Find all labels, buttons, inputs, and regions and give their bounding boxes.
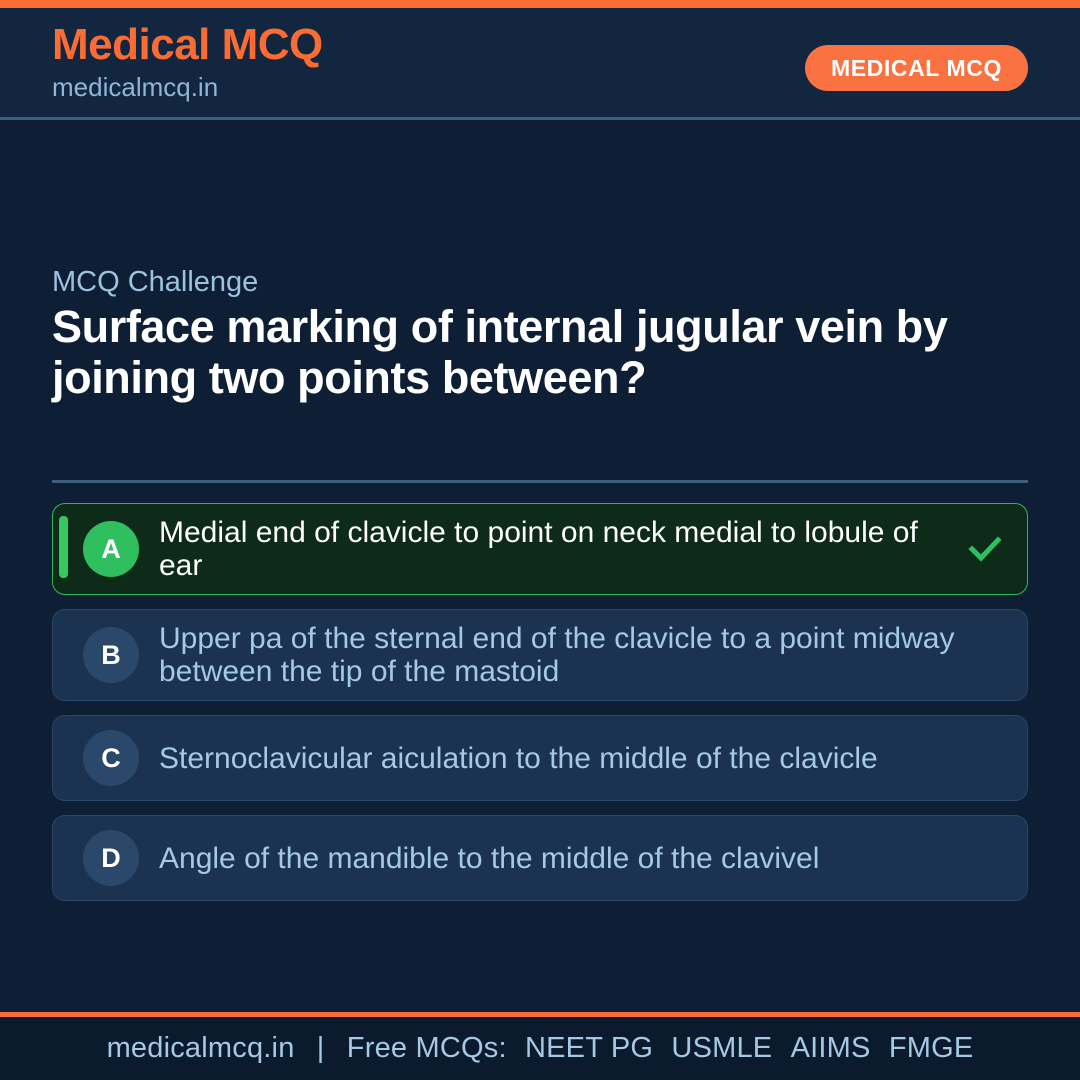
question-text: Surface marking of internal jugular vein… (52, 302, 1032, 404)
footer-exam-usmle: USMLE (661, 1032, 772, 1064)
footer-exam-fmge: FMGE (879, 1032, 974, 1064)
footer-separator: | (303, 1032, 339, 1064)
brand-subtitle: medicalmcq.in (52, 71, 323, 104)
footer-exam-aiims: AIIMS (781, 1032, 871, 1064)
mcq-kicker-label: MCQ Challenge (52, 268, 258, 297)
option-b[interactable]: B Upper pa of the sternal end of the cla… (52, 609, 1028, 701)
option-c-text: Sternoclavicular aiculation to the middl… (159, 730, 963, 787)
option-d-letter-badge: D (83, 830, 139, 886)
option-a-letter-badge: A (83, 521, 139, 577)
page-header: Medical MCQ medicalmcq.in MEDICAL MCQ (0, 8, 1080, 120)
footer-text: medicalmcq.in | Free MCQs: NEET PG USMLE… (107, 1032, 974, 1065)
options-list: A Medial end of clavicle to point on nec… (52, 503, 1028, 915)
header-badge: MEDICAL MCQ (805, 45, 1028, 91)
option-d-text: Angle of the mandible to the middle of t… (159, 830, 963, 887)
option-d[interactable]: D Angle of the mandible to the middle of… (52, 815, 1028, 901)
main-content: MCQ Challenge Surface marking of interna… (0, 120, 1080, 1012)
check-icon (965, 529, 1005, 569)
option-a[interactable]: A Medial end of clavicle to point on nec… (52, 503, 1028, 595)
question-divider (52, 480, 1028, 483)
correct-accent-bar (59, 516, 68, 578)
option-b-text: Upper pa of the sternal end of the clavi… (159, 610, 963, 700)
option-c-letter-badge: C (83, 730, 139, 786)
brand-title: Medical MCQ (52, 22, 323, 69)
option-b-letter-badge: B (83, 627, 139, 683)
footer-exams-label: Free MCQs: (347, 1032, 507, 1064)
page-footer: medicalmcq.in | Free MCQs: NEET PG USMLE… (0, 1012, 1080, 1080)
option-c[interactable]: C Sternoclavicular aiculation to the mid… (52, 715, 1028, 801)
brand: Medical MCQ medicalmcq.in (52, 22, 323, 103)
footer-exam-neetpg: NEET PG (515, 1032, 653, 1064)
option-a-text: Medial end of clavicle to point on neck … (159, 504, 963, 594)
top-accent-strip (0, 0, 1080, 8)
footer-site: medicalmcq.in (107, 1032, 295, 1064)
